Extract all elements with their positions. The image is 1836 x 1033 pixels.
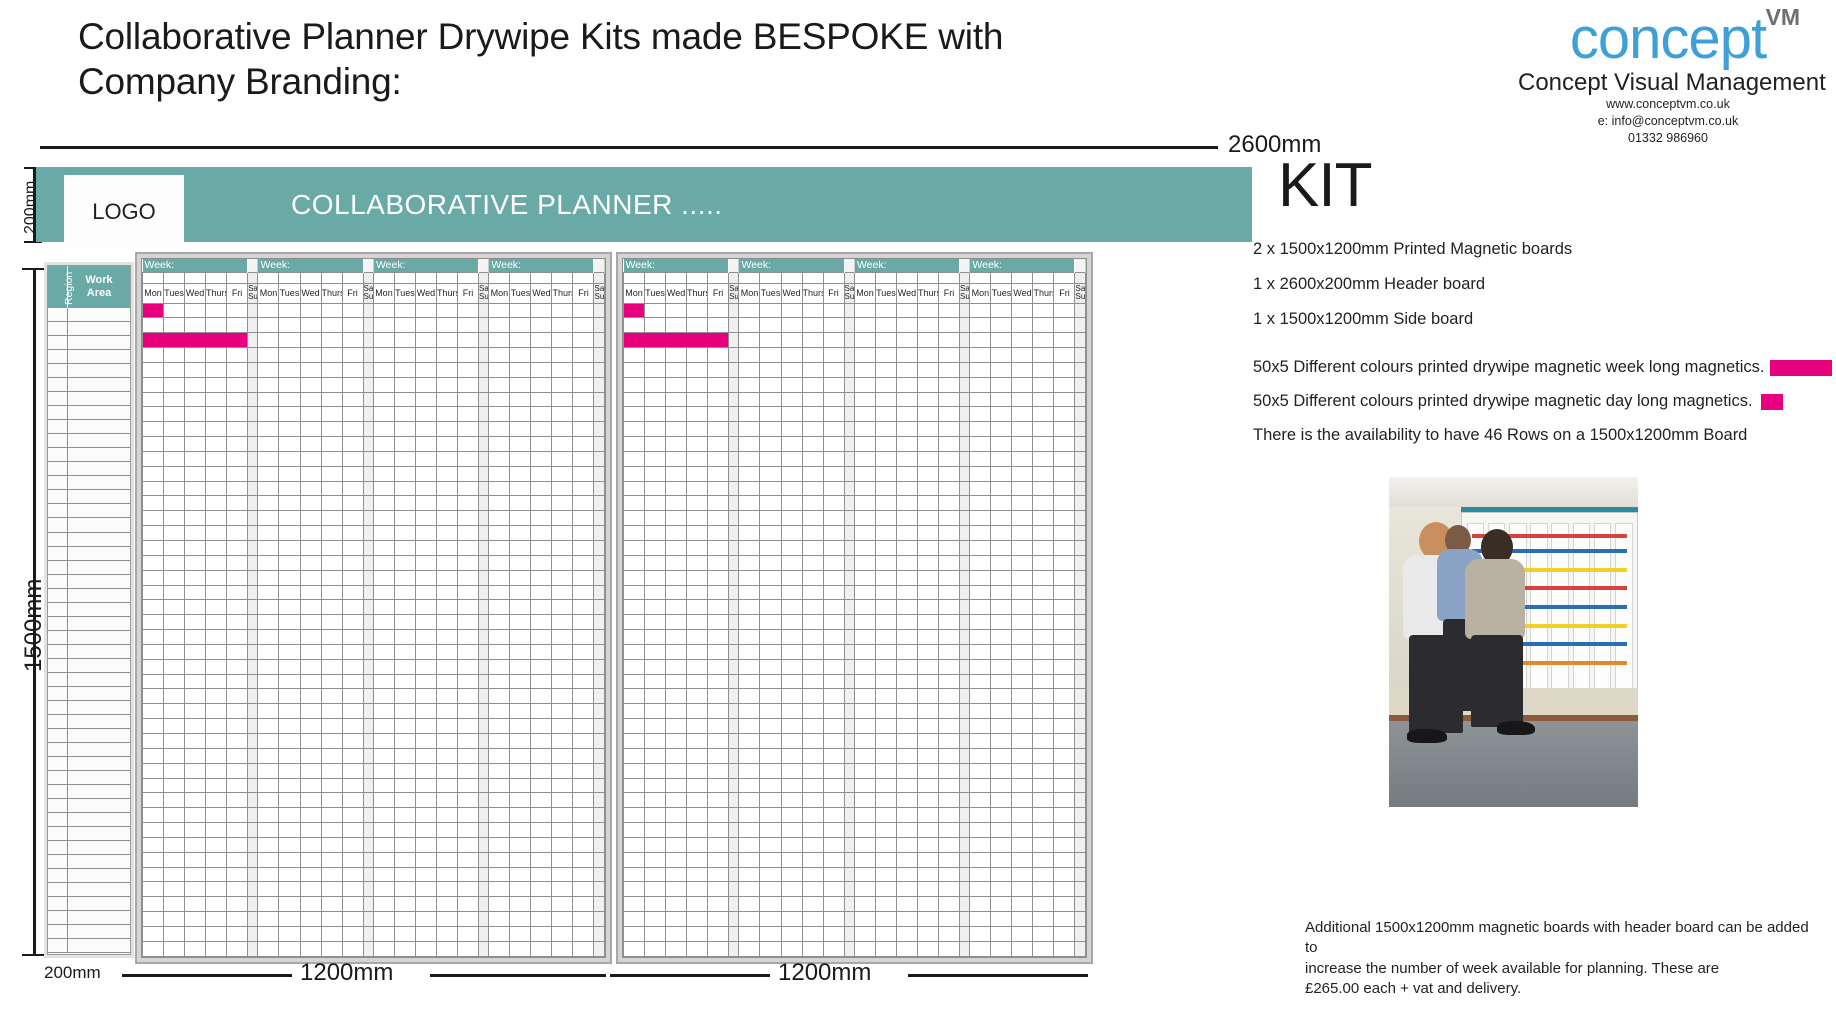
weekend-cell[interactable] (844, 422, 854, 437)
planner-row[interactable] (624, 585, 1086, 600)
planner-cell[interactable] (531, 422, 552, 437)
planner-cell[interactable] (624, 481, 645, 496)
weekend-cell[interactable] (960, 318, 970, 333)
planner-cell[interactable] (875, 511, 896, 526)
planner-cell[interactable] (970, 941, 991, 956)
planner-cell[interactable] (1054, 644, 1075, 659)
planner-cell[interactable] (708, 659, 729, 674)
planner-cell[interactable] (510, 496, 531, 511)
planner-cell[interactable] (781, 719, 802, 734)
side-board-work-area-cell[interactable] (68, 547, 130, 560)
weekend-cell[interactable] (479, 912, 489, 927)
planner-cell[interactable] (164, 912, 185, 927)
planner-cell[interactable] (1033, 407, 1054, 422)
side-board-region-cell[interactable] (48, 631, 68, 644)
weekend-cell[interactable] (363, 318, 373, 333)
planner-cell[interactable] (970, 748, 991, 763)
planner-cell[interactable] (300, 674, 321, 689)
planner-cell[interactable] (760, 704, 781, 719)
planner-cell[interactable] (415, 644, 436, 659)
planner-cell[interactable] (300, 926, 321, 941)
planner-cell[interactable] (823, 407, 844, 422)
planner-cell[interactable] (624, 897, 645, 912)
weekend-cell[interactable] (1075, 407, 1086, 422)
planner-cell[interactable] (573, 852, 594, 867)
planner-cell[interactable] (436, 704, 457, 719)
planner-cell[interactable] (227, 837, 248, 852)
planner-cell[interactable] (279, 466, 300, 481)
planner-cell[interactable] (206, 511, 227, 526)
planner-cell[interactable] (645, 778, 666, 793)
planner-cell[interactable] (823, 496, 844, 511)
planner-cell[interactable] (739, 600, 760, 615)
side-board-work-area-cell[interactable] (68, 729, 130, 742)
planner-cell[interactable] (279, 733, 300, 748)
weekend-cell[interactable] (594, 926, 605, 941)
planner-cell[interactable] (896, 555, 917, 570)
planner-cell[interactable] (510, 912, 531, 927)
planner-cell[interactable] (917, 733, 938, 748)
planner-cell[interactable] (896, 303, 917, 318)
planner-cell[interactable] (917, 763, 938, 778)
planner-cell[interactable] (939, 793, 960, 808)
weekend-cell[interactable] (594, 600, 605, 615)
planner-cell[interactable] (645, 674, 666, 689)
weekend-cell[interactable] (479, 570, 489, 585)
weekend-cell[interactable] (844, 377, 854, 392)
planner-cell[interactable] (415, 926, 436, 941)
planner-cell[interactable] (991, 318, 1012, 333)
planner-cell[interactable] (781, 912, 802, 927)
planner-cell[interactable] (143, 570, 164, 585)
planner-cell[interactable] (258, 644, 279, 659)
planner-cell[interactable] (708, 793, 729, 808)
planner-cell[interactable] (896, 451, 917, 466)
weekend-cell[interactable] (248, 481, 258, 496)
planner-cell[interactable] (458, 362, 479, 377)
planner-cell[interactable] (300, 377, 321, 392)
planner-cell[interactable] (321, 763, 342, 778)
planner-cell[interactable] (436, 451, 457, 466)
weekend-cell[interactable] (1075, 733, 1086, 748)
weekend-cell[interactable] (248, 837, 258, 852)
weekend-cell[interactable] (960, 526, 970, 541)
planner-cell[interactable] (645, 912, 666, 927)
planner-cell[interactable] (143, 719, 164, 734)
weekend-cell[interactable] (1075, 362, 1086, 377)
planner-cell[interactable] (687, 585, 708, 600)
weekend-cell[interactable] (729, 348, 739, 363)
planner-cell[interactable] (531, 348, 552, 363)
planner-cell[interactable] (823, 333, 844, 348)
planner-cell[interactable] (687, 466, 708, 481)
weekend-cell[interactable] (844, 362, 854, 377)
side-board-row[interactable] (48, 659, 130, 673)
planner-cell[interactable] (373, 333, 394, 348)
week-label-cell[interactable]: Week: (854, 259, 959, 272)
planner-cell[interactable] (164, 733, 185, 748)
planner-cell[interactable] (300, 496, 321, 511)
weekend-cell[interactable] (1075, 823, 1086, 838)
planner-cell[interactable] (1012, 496, 1033, 511)
planner-cell[interactable] (373, 600, 394, 615)
planner-cell[interactable] (394, 941, 415, 956)
planner-cell[interactable] (227, 867, 248, 882)
planner-cell[interactable] (823, 526, 844, 541)
weekend-cell[interactable] (594, 303, 605, 318)
planner-cell[interactable] (489, 362, 510, 377)
planner-cell[interactable] (991, 511, 1012, 526)
planner-cell[interactable] (917, 526, 938, 541)
planner-row[interactable] (624, 748, 1086, 763)
side-board-row[interactable] (48, 729, 130, 743)
planner-cell[interactable] (875, 897, 896, 912)
planner-cell[interactable] (573, 912, 594, 927)
planner-cell[interactable] (415, 659, 436, 674)
planner-cell[interactable] (1012, 674, 1033, 689)
planner-cell[interactable] (300, 912, 321, 927)
planner-cell[interactable] (687, 481, 708, 496)
weekend-cell[interactable] (248, 941, 258, 956)
weekend-cell[interactable] (729, 926, 739, 941)
planner-cell[interactable] (342, 481, 363, 496)
planner-cell[interactable] (206, 897, 227, 912)
planner-cell[interactable] (875, 318, 896, 333)
planner-cell[interactable] (666, 808, 687, 823)
planner-cell[interactable] (666, 600, 687, 615)
planner-cell[interactable] (917, 719, 938, 734)
weekend-cell[interactable] (729, 451, 739, 466)
planner-row[interactable] (624, 526, 1086, 541)
planner-cell[interactable] (510, 451, 531, 466)
planner-cell[interactable] (258, 407, 279, 422)
weekend-cell[interactable] (960, 793, 970, 808)
side-board-row[interactable] (48, 322, 130, 336)
week-label-cell[interactable]: Week: (258, 259, 363, 272)
planner-cell[interactable] (1012, 422, 1033, 437)
planner-cell[interactable] (279, 659, 300, 674)
planner-cell[interactable] (342, 600, 363, 615)
planner-cell[interactable] (510, 719, 531, 734)
planner-cell[interactable] (164, 897, 185, 912)
weekend-cell[interactable] (363, 763, 373, 778)
planner-cell[interactable] (1012, 555, 1033, 570)
weekend-cell[interactable] (1075, 615, 1086, 630)
weekend-cell[interactable] (594, 333, 605, 348)
planner-cell[interactable] (415, 600, 436, 615)
planner-cell[interactable] (164, 437, 185, 452)
planner-cell[interactable] (1054, 630, 1075, 645)
planner-cell[interactable] (1012, 362, 1033, 377)
planner-cell[interactable] (1054, 689, 1075, 704)
weekend-cell[interactable] (479, 704, 489, 719)
weekend-cell[interactable] (248, 362, 258, 377)
planner-cell[interactable] (687, 630, 708, 645)
planner-cell[interactable] (875, 704, 896, 719)
planner-cell[interactable] (552, 912, 573, 927)
planner-cell[interactable] (552, 585, 573, 600)
weekend-cell[interactable] (1075, 912, 1086, 927)
planner-cell[interactable] (991, 333, 1012, 348)
planner-cell[interactable] (321, 823, 342, 838)
weekend-cell[interactable] (729, 941, 739, 956)
side-board-row[interactable] (48, 757, 130, 771)
planner-cell[interactable] (666, 496, 687, 511)
planner-cell[interactable] (939, 451, 960, 466)
planner-cell[interactable] (991, 733, 1012, 748)
planner-cell[interactable] (206, 882, 227, 897)
planner-cell[interactable] (373, 526, 394, 541)
planner-cell[interactable] (802, 823, 823, 838)
weekend-cell[interactable] (729, 511, 739, 526)
planner-cell[interactable] (970, 377, 991, 392)
planner-cell[interactable] (781, 674, 802, 689)
planner-cell[interactable] (1054, 600, 1075, 615)
planner-cell[interactable] (970, 392, 991, 407)
weekend-cell[interactable] (729, 867, 739, 882)
planner-row[interactable] (143, 407, 605, 422)
planner-cell[interactable] (781, 644, 802, 659)
planner-row[interactable] (624, 451, 1086, 466)
planner-row[interactable] (624, 333, 1086, 348)
planner-cell[interactable] (373, 451, 394, 466)
weekend-cell[interactable] (594, 778, 605, 793)
planner-cell[interactable] (802, 362, 823, 377)
planner-cell[interactable] (510, 689, 531, 704)
planner-cell[interactable] (206, 437, 227, 452)
planner-cell[interactable] (510, 422, 531, 437)
planner-cell[interactable] (781, 333, 802, 348)
planner-cell[interactable] (185, 615, 206, 630)
planner-cell[interactable] (143, 644, 164, 659)
planner-cell[interactable] (531, 318, 552, 333)
planner-cell[interactable] (854, 808, 875, 823)
planner-cell[interactable] (939, 407, 960, 422)
planner-cell[interactable] (573, 719, 594, 734)
side-board-work-area-cell[interactable] (68, 462, 130, 475)
planner-cell[interactable] (854, 748, 875, 763)
planner-cell[interactable] (415, 511, 436, 526)
planner-cell[interactable] (373, 511, 394, 526)
planner-cell[interactable] (279, 778, 300, 793)
planner-cell[interactable] (531, 897, 552, 912)
planner-cell[interactable] (991, 466, 1012, 481)
planner-row[interactable] (143, 333, 605, 348)
planner-cell[interactable] (875, 407, 896, 422)
planner-cell[interactable] (510, 392, 531, 407)
weekend-cell[interactable] (594, 748, 605, 763)
planner-cell[interactable] (802, 451, 823, 466)
planner-cell[interactable] (489, 318, 510, 333)
side-board-work-area-cell[interactable] (68, 701, 130, 714)
planner-cell[interactable] (573, 808, 594, 823)
planner-cell[interactable] (802, 674, 823, 689)
planner-cell[interactable] (436, 867, 457, 882)
planner-cell[interactable] (573, 526, 594, 541)
side-board-region-cell[interactable] (48, 687, 68, 700)
side-board-region-cell[interactable] (48, 547, 68, 560)
planner-cell[interactable] (510, 763, 531, 778)
planner-cell[interactable] (510, 570, 531, 585)
planner-cell[interactable] (896, 585, 917, 600)
planner-cell[interactable] (781, 526, 802, 541)
planner-cell[interactable] (645, 496, 666, 511)
planner-cell[interactable] (917, 837, 938, 852)
weekend-cell[interactable] (844, 897, 854, 912)
planner-cell[interactable] (342, 793, 363, 808)
planner-cell[interactable] (510, 615, 531, 630)
weekend-cell[interactable] (479, 303, 489, 318)
weekend-cell[interactable] (363, 526, 373, 541)
planner-cell[interactable] (143, 392, 164, 407)
planner-cell[interactable] (394, 733, 415, 748)
planner-cell[interactable] (321, 689, 342, 704)
planner-cell[interactable] (164, 392, 185, 407)
planner-cell[interactable] (760, 926, 781, 941)
planner-cell[interactable] (436, 808, 457, 823)
planner-row[interactable] (143, 362, 605, 377)
planner-cell[interactable] (458, 748, 479, 763)
planner-cell[interactable] (552, 852, 573, 867)
planner-cell[interactable] (645, 451, 666, 466)
planner-cell[interactable] (436, 333, 457, 348)
planner-cell[interactable] (206, 763, 227, 778)
side-board-region-cell[interactable] (48, 533, 68, 546)
planner-cell[interactable] (489, 689, 510, 704)
planner-cell[interactable] (1033, 615, 1054, 630)
planner-cell[interactable] (436, 748, 457, 763)
week-long-magnet[interactable] (143, 333, 248, 348)
planner-row[interactable] (624, 882, 1086, 897)
planner-cell[interactable] (1054, 778, 1075, 793)
planner-cell[interactable] (854, 644, 875, 659)
weekend-cell[interactable] (363, 867, 373, 882)
planner-cell[interactable] (802, 867, 823, 882)
weekend-cell[interactable] (844, 763, 854, 778)
planner-cell[interactable] (300, 941, 321, 956)
planner-cell[interactable] (373, 926, 394, 941)
planner-cell[interactable] (258, 541, 279, 556)
planner-cell[interactable] (342, 763, 363, 778)
side-board-row[interactable] (48, 911, 130, 925)
planner-cell[interactable] (489, 823, 510, 838)
weekend-cell[interactable] (960, 303, 970, 318)
planner-cell[interactable] (687, 659, 708, 674)
planner-cell[interactable] (939, 526, 960, 541)
planner-cell[interactable] (342, 630, 363, 645)
planner-row[interactable] (143, 704, 605, 719)
planner-cell[interactable] (458, 823, 479, 838)
planner-cell[interactable] (1012, 348, 1033, 363)
planner-cell[interactable] (321, 704, 342, 719)
planner-cell[interactable] (781, 704, 802, 719)
planner-cell[interactable] (896, 823, 917, 838)
planner-cell[interactable] (687, 719, 708, 734)
side-board-region-cell[interactable] (48, 350, 68, 363)
weekend-cell[interactable] (844, 481, 854, 496)
weekend-cell[interactable] (729, 778, 739, 793)
planner-cell[interactable] (321, 362, 342, 377)
planner-cell[interactable] (373, 422, 394, 437)
side-board-work-area-cell[interactable] (68, 434, 130, 447)
planner-cell[interactable] (917, 704, 938, 719)
planner-cell[interactable] (531, 362, 552, 377)
planner-cell[interactable] (666, 644, 687, 659)
side-board-work-area-cell[interactable] (68, 406, 130, 419)
side-board-row[interactable] (48, 813, 130, 827)
planner-cell[interactable] (896, 644, 917, 659)
planner-cell[interactable] (854, 318, 875, 333)
weekend-cell[interactable] (479, 748, 489, 763)
planner-cell[interactable] (458, 674, 479, 689)
planner-cell[interactable] (624, 392, 645, 407)
planner-cell[interactable] (823, 689, 844, 704)
planner-cell[interactable] (823, 362, 844, 377)
planner-cell[interactable] (489, 926, 510, 941)
weekend-cell[interactable] (479, 555, 489, 570)
planner-cell[interactable] (708, 585, 729, 600)
planner-row[interactable] (624, 852, 1086, 867)
planner-cell[interactable] (823, 600, 844, 615)
planner-cell[interactable] (739, 897, 760, 912)
planner-cell[interactable] (279, 437, 300, 452)
planner-cell[interactable] (436, 778, 457, 793)
planner-cell[interactable] (708, 600, 729, 615)
planner-cell[interactable] (531, 615, 552, 630)
side-board-row[interactable] (48, 518, 130, 532)
weekend-cell[interactable] (363, 585, 373, 600)
planner-cell[interactable] (164, 481, 185, 496)
planner-cell[interactable] (415, 348, 436, 363)
weekend-cell[interactable] (844, 644, 854, 659)
planner-cell[interactable] (1033, 926, 1054, 941)
planner-cell[interactable] (373, 897, 394, 912)
planner-cell[interactable] (739, 659, 760, 674)
planner-cell[interactable] (854, 733, 875, 748)
planner-cell[interactable] (206, 526, 227, 541)
planner-cell[interactable] (206, 793, 227, 808)
planner-cell[interactable] (227, 882, 248, 897)
planner-cell[interactable] (510, 541, 531, 556)
planner-cell[interactable] (552, 570, 573, 585)
planner-cell[interactable] (143, 481, 164, 496)
planner-cell[interactable] (143, 437, 164, 452)
planner-cell[interactable] (573, 362, 594, 377)
planner-cell[interactable] (342, 941, 363, 956)
side-board-region-cell[interactable] (48, 617, 68, 630)
planner-cell[interactable] (760, 897, 781, 912)
planner-cell[interactable] (708, 630, 729, 645)
side-board-region-cell[interactable] (48, 603, 68, 616)
weekend-cell[interactable] (363, 689, 373, 704)
planner-cell[interactable] (489, 719, 510, 734)
planner-cell[interactable] (510, 941, 531, 956)
planner-cell[interactable] (373, 674, 394, 689)
planner-cell[interactable] (760, 451, 781, 466)
planner-cell[interactable] (227, 511, 248, 526)
planner-cell[interactable] (531, 496, 552, 511)
weekend-cell[interactable] (844, 867, 854, 882)
planner-cell[interactable] (991, 481, 1012, 496)
planner-cell[interactable] (394, 481, 415, 496)
planner-cell[interactable] (458, 318, 479, 333)
side-board-region-cell[interactable] (48, 462, 68, 475)
planner-cell[interactable] (321, 600, 342, 615)
weekend-cell[interactable] (594, 348, 605, 363)
planner-cell[interactable] (415, 852, 436, 867)
planner-cell[interactable] (552, 541, 573, 556)
planner-cell[interactable] (875, 496, 896, 511)
